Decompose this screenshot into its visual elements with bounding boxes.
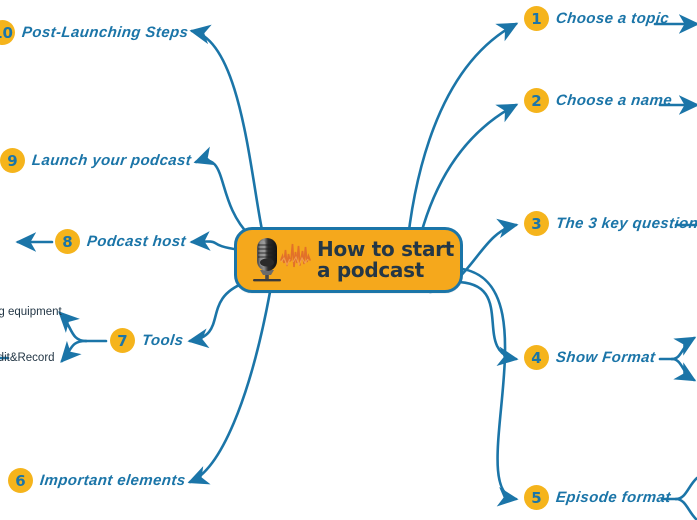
branch-badge-4: 4	[524, 345, 549, 370]
branch-3[interactable]: 3 The 3 key questions	[524, 211, 697, 236]
branch-2[interactable]: 2 Choose a name	[524, 88, 672, 113]
branch-label-3: The 3 key questions	[555, 215, 697, 232]
branch-label-7: Tools	[141, 332, 184, 349]
sub-label-edit-and-record[interactable]: Edit&Record	[0, 352, 55, 364]
branch-badge-8: 8	[55, 229, 80, 254]
branch-10[interactable]: 10 Post-Launching Steps	[0, 20, 188, 45]
branch-8[interactable]: 8 Podcast host	[55, 229, 186, 254]
branch-badge-9: 9	[0, 148, 25, 173]
branch-badge-10: 10	[0, 20, 15, 45]
center-node[interactable]: How to start a podcast	[234, 227, 463, 293]
center-title-line-1: How to start	[317, 239, 454, 260]
branch-badge-2: 2	[524, 88, 549, 113]
branch-9[interactable]: 9 Launch your podcast	[0, 148, 191, 173]
branch-badge-1: 1	[524, 6, 549, 31]
branch-label-9: Launch your podcast	[31, 152, 192, 169]
sub-label-recording-equipment[interactable]: ng equipment	[0, 306, 62, 318]
branch-4[interactable]: 4 Show Format	[524, 345, 655, 370]
branch-badge-6: 6	[8, 468, 33, 493]
branch-label-10: Post-Launching Steps	[21, 24, 189, 41]
branch-7[interactable]: 7 Tools	[110, 328, 183, 353]
microphone-waveform-icon	[243, 232, 315, 288]
branch-label-4: Show Format	[555, 349, 656, 366]
branch-badge-7: 7	[110, 328, 135, 353]
branch-6[interactable]: 6 Important elements	[8, 468, 186, 493]
branch-1[interactable]: 1 Choose a topic	[524, 6, 669, 31]
branch-label-6: Important elements	[39, 472, 186, 489]
center-title-line-2: a podcast	[317, 260, 454, 281]
branch-badge-3: 3	[524, 211, 549, 236]
branch-label-8: Podcast host	[86, 233, 187, 250]
branch-label-2: Choose a name	[555, 92, 673, 109]
branch-badge-5: 5	[524, 485, 549, 510]
branch-label-5: Episode format	[555, 489, 672, 506]
mindmap-canvas: How to start a podcast 1 Choose a topic …	[0, 0, 697, 520]
branch-label-1: Choose a topic	[555, 10, 670, 27]
center-node-title: How to start a podcast	[317, 239, 454, 281]
branch-5[interactable]: 5 Episode format	[524, 485, 671, 510]
